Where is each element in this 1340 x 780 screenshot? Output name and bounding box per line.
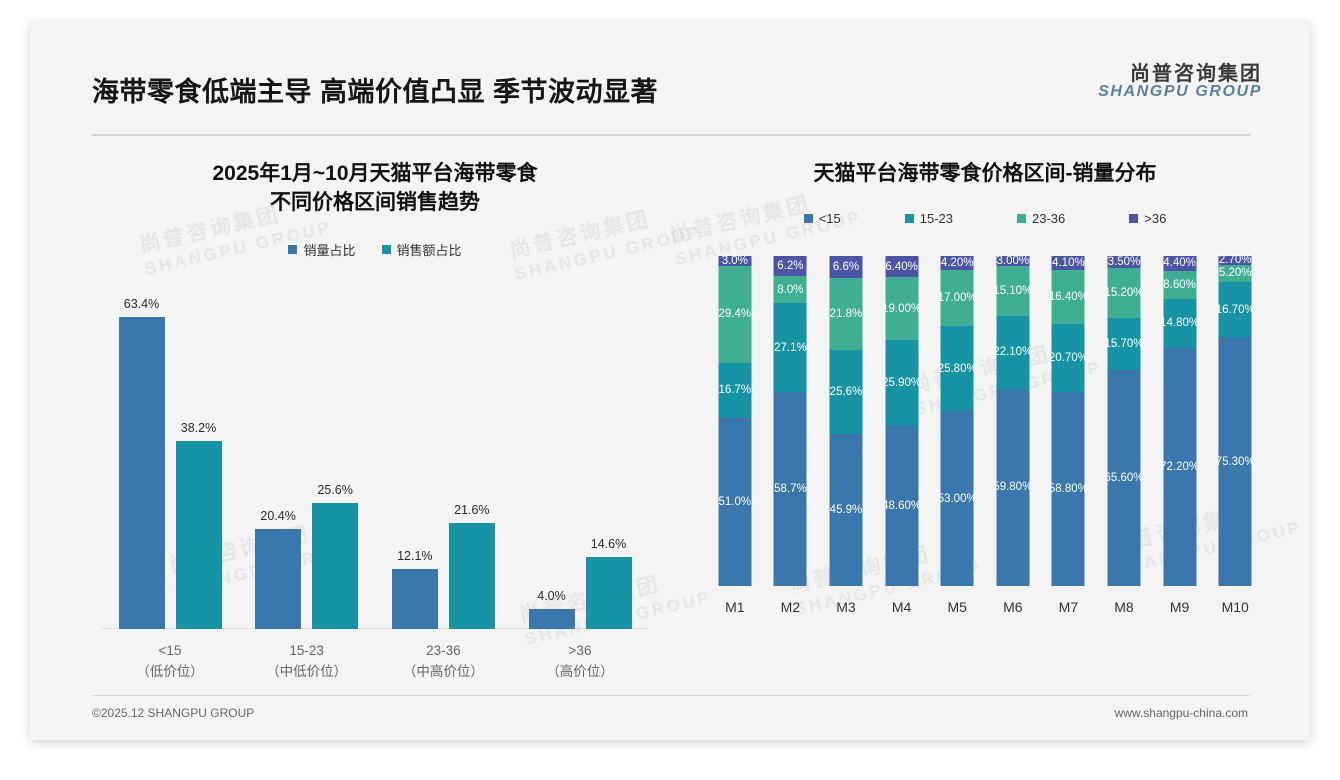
x-axis-month-label: M2 (763, 586, 819, 615)
stacked-bar-column: 72.20%14.80%8.60%4.40%M9 (1152, 256, 1208, 586)
stacked-bar-segment[interactable]: 25.6% (829, 350, 862, 435)
stacked-bar-segment[interactable]: 4.10% (1052, 256, 1085, 270)
segment-value-label: 25.6% (830, 386, 863, 398)
legend-item[interactable]: >36 (1129, 211, 1166, 226)
segment-value-label: 17.00% (938, 292, 977, 304)
x-axis-category-sub: （中高价位） (375, 662, 511, 683)
legend-item[interactable]: 销量占比 (288, 240, 355, 259)
bar[interactable]: 20.4% (255, 529, 301, 629)
stacked-bar-segment[interactable]: 5.20% (1219, 265, 1252, 282)
legend-swatch-icon (1017, 214, 1026, 223)
stacked-bar-column: 51.0%16.7%29.4%3.0%M1 (707, 256, 763, 586)
legend-item-label: >36 (1144, 211, 1166, 226)
segment-value-label: 72.20% (1160, 461, 1199, 473)
bar-value-label: 14.6% (591, 537, 626, 551)
segment-value-label: 6.6% (833, 261, 859, 273)
stacked-bar-segment[interactable]: 4.20% (941, 256, 974, 270)
segment-value-label: 21.8% (830, 308, 863, 320)
website-url: www.shangpu-china.com (1115, 706, 1248, 720)
stacked-bar-segment[interactable]: 48.60% (885, 425, 918, 586)
bar[interactable]: 12.1% (392, 569, 438, 628)
bar-fill (255, 529, 301, 629)
stacked-bar-segment[interactable]: 20.70% (1052, 324, 1085, 392)
segment-value-label: 51.0% (718, 496, 751, 508)
bar-value-label: 12.1% (397, 549, 432, 563)
bar[interactable]: 21.6% (449, 523, 495, 629)
stacked-bar[interactable]: 58.7%27.1%8.0%6.2% (774, 256, 807, 586)
bar-value-label: 21.6% (454, 503, 489, 517)
segment-value-label: 15.70% (1104, 338, 1143, 350)
segment-value-label: 15.20% (1104, 287, 1143, 299)
segment-value-label: 4.20% (941, 257, 974, 269)
footer-divider (92, 695, 1250, 696)
bar-fill (312, 503, 358, 629)
stacked-bar-segment[interactable]: 58.7% (774, 392, 807, 586)
x-axis-month-label: M1 (707, 586, 763, 615)
x-axis-month-label: M9 (1152, 586, 1208, 615)
stacked-bar-segment[interactable]: 17.00% (941, 270, 974, 326)
segment-value-label: 3.00% (996, 255, 1029, 267)
legend-item-label: 15-23 (920, 211, 953, 226)
stacked-bar-segment[interactable]: 6.6% (829, 256, 862, 278)
x-axis-category-main: >36 (512, 641, 648, 662)
legend-swatch-icon (804, 214, 813, 223)
stacked-bar-segment[interactable]: 75.30% (1219, 337, 1252, 586)
stacked-bar-segment[interactable]: 59.80% (996, 389, 1029, 586)
x-axis-month-label: M6 (985, 586, 1041, 615)
bar-value-label: 25.6% (317, 483, 352, 497)
stacked-bar-segment[interactable]: 2.70% (1219, 256, 1252, 265)
stacked-bar[interactable]: 58.80%20.70%16.40%4.10% (1052, 256, 1085, 586)
segment-value-label: 53.00% (938, 493, 977, 505)
segment-value-label: 45.9% (830, 504, 863, 516)
bar-group: 63.4%38.2%<15（低价位） (102, 285, 238, 629)
legend-swatch-icon (288, 245, 297, 254)
stacked-bar-segment[interactable]: 3.50% (1107, 256, 1140, 268)
legend-item-label: 销售额占比 (397, 240, 462, 259)
segment-value-label: 3.0% (722, 255, 748, 267)
stacked-bar-column: 53.00%25.80%17.00%4.20%M5 (929, 256, 985, 586)
brand-logo: 尚普咨询集团 SHANGPU GROUP (1098, 64, 1262, 101)
segment-value-label: 6.2% (777, 260, 803, 272)
stacked-bar[interactable]: 65.60%15.70%15.20%3.50% (1107, 256, 1140, 586)
chart-panel-right: 天猫平台海带零食价格区间-销量分布 <1515-2323-36>36 51.0%… (685, 132, 1285, 692)
x-axis-category-label: <15（低价位） (102, 629, 238, 683)
stacked-bar-column: 48.60%25.90%19.00%6.40%M4 (874, 256, 930, 586)
segment-value-label: 25.90% (882, 377, 921, 389)
segment-value-label: 6.40% (885, 261, 918, 273)
segment-value-label: 58.80% (1049, 483, 1088, 495)
legend-item[interactable]: 15-23 (905, 211, 953, 226)
stacked-bar-segment[interactable]: 29.4% (718, 266, 751, 363)
stacked-bar-segment[interactable]: 4.40% (1163, 256, 1196, 271)
stacked-bar-segment[interactable]: 16.70% (1219, 282, 1252, 337)
stacked-bar-segment[interactable]: 45.9% (829, 434, 862, 586)
left-chart-legend: 销量占比销售额占比 (75, 240, 675, 259)
legend-item-label: 23-36 (1032, 211, 1065, 226)
stacked-bar[interactable]: 53.00%25.80%17.00%4.20% (941, 256, 974, 586)
legend-swatch-icon (382, 245, 391, 254)
segment-value-label: 48.60% (882, 500, 921, 512)
stacked-bar-segment[interactable]: 6.40% (885, 256, 918, 277)
bar-value-label: 20.4% (260, 509, 295, 523)
stacked-bar-segment[interactable]: 8.0% (774, 276, 807, 302)
stacked-bar[interactable]: 45.9%25.6%21.8%6.6% (829, 256, 862, 586)
bar[interactable]: 38.2% (176, 441, 222, 629)
x-axis-category-label: 15-23（中低价位） (239, 629, 375, 683)
stacked-bar-segment[interactable]: 25.80% (941, 326, 974, 411)
bar-fill (392, 569, 438, 628)
stacked-bar-segment[interactable]: 6.2% (774, 256, 807, 276)
segment-value-label: 5.20% (1219, 267, 1252, 279)
stacked-bar[interactable]: 59.80%22.10%15.10%3.00% (996, 256, 1029, 586)
stacked-bar-column: 65.60%15.70%15.20%3.50%M8 (1096, 256, 1152, 586)
segment-value-label: 15.10% (993, 285, 1032, 297)
stacked-bar-column: 75.30%16.70%5.20%2.70%M10 (1207, 256, 1263, 586)
stacked-bar-segment[interactable]: 14.80% (1163, 299, 1196, 348)
segment-value-label: 29.4% (718, 308, 751, 320)
x-axis-category-main: <15 (102, 641, 238, 662)
x-axis-category-main: 15-23 (239, 641, 375, 662)
stacked-bar-segment[interactable]: 27.1% (774, 303, 807, 392)
x-axis-month-label: M7 (1041, 586, 1097, 615)
stacked-bar-column: 59.80%22.10%15.10%3.00%M6 (985, 256, 1041, 586)
x-axis-month-label: M8 (1096, 586, 1152, 615)
x-axis-category-label: 23-36（中高价位） (375, 629, 511, 683)
segment-value-label: 16.70% (1216, 304, 1255, 316)
segment-value-label: 19.00% (882, 303, 921, 315)
bar-value-label: 4.0% (537, 589, 566, 603)
segment-value-label: 27.1% (774, 342, 807, 354)
stacked-bar-column: 58.7%27.1%8.0%6.2%M2 (763, 256, 819, 586)
chart-panel-left: 2025年1月~10月天猫平台海带零食 不同价格区间销售趋势 销量占比销售额占比… (75, 132, 675, 692)
stacked-bar-segment[interactable]: 16.40% (1052, 270, 1085, 324)
bar-fill (176, 441, 222, 629)
legend-item[interactable]: 销售额占比 (382, 240, 462, 259)
segment-value-label: 16.7% (718, 384, 751, 396)
segment-value-label: 14.80% (1160, 317, 1199, 329)
stacked-bar-segment[interactable]: 21.8% (829, 278, 862, 350)
stacked-bar[interactable]: 75.30%16.70%5.20%2.70% (1219, 256, 1252, 586)
segment-value-label: 3.50% (1108, 256, 1141, 268)
stacked-bar-segment[interactable]: 3.00% (996, 256, 1029, 266)
legend-item[interactable]: 23-36 (1017, 211, 1065, 226)
grouped-bar-chart: 63.4%38.2%<15（低价位）20.4%25.6%15-23（中低价位）1… (102, 285, 648, 629)
stacked-bar-column: 45.9%25.6%21.8%6.6%M3 (818, 256, 874, 586)
left-chart-title: 2025年1月~10月天猫平台海带零食 不同价格区间销售趋势 (75, 160, 675, 218)
x-axis-category-main: 23-36 (375, 641, 511, 662)
stacked-bar-segment[interactable]: 15.70% (1107, 318, 1140, 370)
segment-value-label: 16.40% (1049, 291, 1088, 303)
bar-group: 4.0%14.6%>36（高价位） (512, 285, 648, 629)
logo-chinese-text: 尚普咨询集团 (1098, 64, 1262, 84)
stacked-bar-segment[interactable]: 8.60% (1163, 271, 1196, 299)
stacked-bar-segment[interactable]: 65.60% (1107, 370, 1140, 586)
stacked-bar[interactable]: 51.0%16.7%29.4%3.0% (718, 256, 751, 586)
segment-value-label: 20.70% (1049, 352, 1088, 364)
bar-fill (529, 609, 575, 629)
legend-item-label: <15 (819, 211, 841, 226)
copyright-text: ©2025.12 SHANGPU GROUP (92, 706, 254, 720)
segment-value-label: 65.60% (1104, 472, 1143, 484)
x-axis-month-label: M5 (929, 586, 985, 615)
x-axis-month-label: M3 (818, 586, 874, 615)
x-axis-month-label: M4 (874, 586, 930, 615)
x-axis-month-label: M10 (1207, 586, 1263, 615)
slide-canvas: 尚普咨询集团SHANGPU GROUP 尚普咨询集团SHANGPU GROUP … (30, 22, 1310, 740)
segment-value-label: 25.80% (938, 363, 977, 375)
stacked-bar-segment[interactable]: 3.0% (718, 256, 751, 266)
bar-value-label: 63.4% (124, 297, 159, 311)
stacked-bar-segment[interactable]: 53.00% (941, 411, 974, 586)
bar[interactable]: 14.6% (586, 557, 632, 629)
bar[interactable]: 4.0% (529, 609, 575, 629)
bar-group: 12.1%21.6%23-36（中高价位） (375, 285, 511, 629)
bar-fill (586, 557, 632, 629)
legend-item-label: 销量占比 (303, 240, 355, 259)
segment-value-label: 8.60% (1163, 279, 1196, 291)
segment-value-label: 2.70% (1219, 254, 1252, 266)
x-axis-category-sub: （中低价位） (239, 662, 375, 683)
x-axis-category-label: >36（高价位） (512, 629, 648, 683)
stacked-bar-segment[interactable]: 22.10% (996, 316, 1029, 389)
segment-value-label: 59.80% (993, 481, 1032, 493)
stacked-bar[interactable]: 48.60%25.90%19.00%6.40% (885, 256, 918, 586)
stacked-bar-segment[interactable]: 25.90% (885, 340, 918, 426)
bar-value-label: 38.2% (181, 421, 216, 435)
bar-fill (119, 317, 165, 629)
stacked-bar-segment[interactable]: 16.7% (718, 363, 751, 418)
legend-swatch-icon (1129, 214, 1138, 223)
slide-header: 海带零食低端主导 高端价值凸显 季节波动显著 尚普咨询集团 SHANGPU GR… (30, 22, 1310, 120)
bar[interactable]: 25.6% (312, 503, 358, 629)
right-chart-title: 天猫平台海带零食价格区间-销量分布 (685, 160, 1285, 189)
right-chart-legend: <1515-2323-36>36 (685, 211, 1285, 226)
legend-item[interactable]: <15 (804, 211, 841, 226)
segment-value-label: 8.0% (777, 284, 803, 296)
legend-swatch-icon (905, 214, 914, 223)
bar-group: 20.4%25.6%15-23（中低价位） (239, 285, 375, 629)
x-axis-category-sub: （高价位） (512, 662, 648, 683)
stacked-bar-segment[interactable]: 51.0% (718, 418, 751, 586)
segment-value-label: 22.10% (993, 346, 1032, 358)
stacked-bar-segment[interactable]: 15.20% (1107, 268, 1140, 318)
segment-value-label: 4.40% (1163, 257, 1196, 269)
bar[interactable]: 63.4% (119, 317, 165, 629)
stacked-bar-segment[interactable]: 58.80% (1052, 392, 1085, 586)
segment-value-label: 75.30% (1216, 456, 1255, 468)
logo-english-text: SHANGPU GROUP (1098, 84, 1262, 100)
segment-value-label: 58.7% (774, 483, 807, 495)
stacked-bar-segment[interactable]: 19.00% (885, 277, 918, 340)
page-title: 海带零食低端主导 高端价值凸显 季节波动显著 (92, 70, 658, 109)
stacked-bar[interactable]: 72.20%14.80%8.60%4.40% (1163, 256, 1196, 586)
x-axis-category-sub: （低价位） (102, 662, 238, 683)
stacked-bar-segment[interactable]: 72.20% (1163, 348, 1196, 586)
stacked-bar-segment[interactable]: 15.10% (996, 266, 1029, 316)
stacked-bar-column: 58.80%20.70%16.40%4.10%M7 (1041, 256, 1097, 586)
bar-fill (449, 523, 495, 629)
segment-value-label: 4.10% (1052, 257, 1085, 269)
stacked-bar-chart: 51.0%16.7%29.4%3.0%M158.7%27.1%8.0%6.2%M… (707, 256, 1263, 586)
